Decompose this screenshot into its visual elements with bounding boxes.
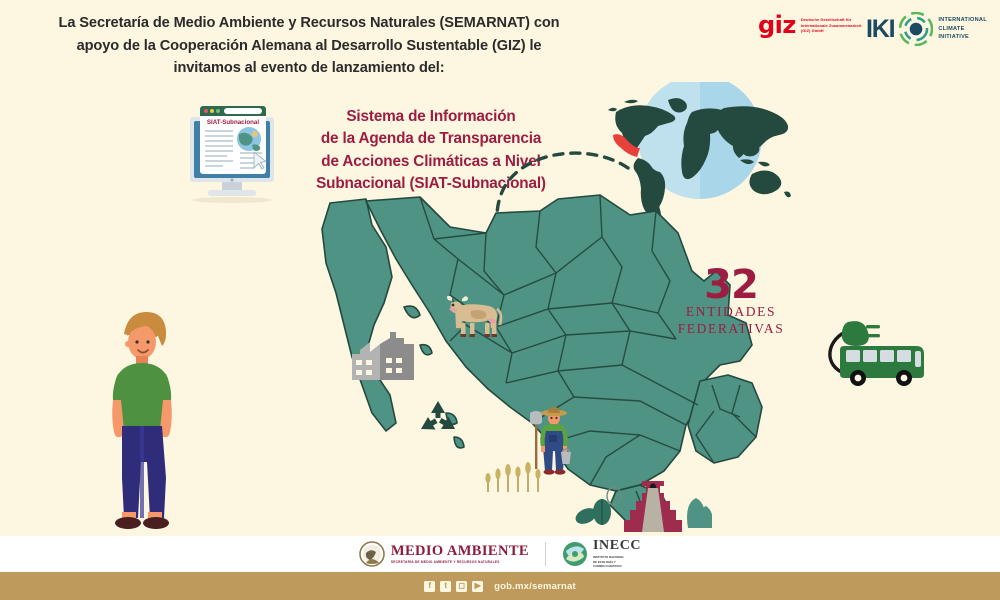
- standing-person-icon: [96, 300, 188, 530]
- iki-subtitle: INTERNATIONAL CLIMATE INITIATIVE: [938, 16, 987, 42]
- footer-website-url[interactable]: gob.mx/semarnat: [494, 581, 576, 592]
- iki-subtitle-line-3: INITIATIVE: [938, 33, 987, 42]
- recycle-icon: [418, 398, 458, 438]
- iki-swirl-icon: [899, 12, 933, 46]
- invitation-header-text: La Secretaría de Medio Ambiente y Recurs…: [14, 12, 604, 80]
- mayan-pyramid-icon: [572, 470, 712, 532]
- iki-logo: IKI INTERNATIONAL CLIMATE INITIATIVE: [866, 12, 987, 46]
- instagram-icon[interactable]: ◻: [456, 581, 467, 592]
- youtube-icon[interactable]: ▶: [472, 581, 483, 592]
- footer-logo-row: MEDIO AMBIENTE SECRETARÍA DE MEDIO AMBIE…: [0, 536, 1000, 572]
- twitter-icon[interactable]: t: [440, 581, 451, 592]
- electric-bus-icon: [812, 318, 938, 394]
- header-line-1: La Secretaría de Medio Ambiente y Recurs…: [14, 12, 604, 35]
- semarnat-title: MEDIO AMBIENTE: [391, 544, 529, 559]
- inecc-title: INECC: [593, 539, 641, 553]
- header-line-3-prefix: invitamos al: [173, 60, 260, 76]
- inecc-subtitle: INSTITUTO NACIONAL DE ECOLOGÍA Y CAMBIO …: [593, 555, 641, 568]
- header-line-3: invitamos al evento de lanzamiento del:: [14, 57, 604, 80]
- entidades-label-line-1: ENTIDADES: [668, 304, 794, 321]
- inecc-leaf-icon: [562, 541, 588, 567]
- semarnat-text-block: MEDIO AMBIENTE SECRETARÍA DE MEDIO AMBIE…: [391, 544, 529, 564]
- footer-divider: [545, 542, 546, 566]
- iki-subtitle-line-2: CLIMATE: [938, 25, 987, 34]
- entidades-federativas-stat: 32 ENTIDADES FEDERATIVAS: [668, 266, 794, 338]
- entidades-label-line-2: FEDERATIVAS: [668, 321, 794, 338]
- factory-icon: [352, 332, 414, 380]
- monitor-browser-title: SIAT-Subnacional: [207, 119, 259, 126]
- header-line-3-suffix: del:: [415, 60, 445, 76]
- iki-wordmark: IKI: [866, 17, 894, 42]
- giz-subtitle: Deutsche Gesellschaft für Internationale…: [801, 14, 863, 34]
- iki-subtitle-line-1: INTERNATIONAL: [938, 16, 987, 25]
- entidades-count: 32: [668, 266, 794, 304]
- inecc-text-block: INECC INSTITUTO NACIONAL DE ECOLOGÍA Y C…: [593, 539, 641, 568]
- footer-social-bar: f t ◻ ▶ gob.mx/semarnat: [0, 572, 1000, 600]
- semarnat-logo: MEDIO AMBIENTE SECRETARÍA DE MEDIO AMBIE…: [359, 541, 529, 567]
- poster-canvas: La Secretaría de Medio Ambiente y Recurs…: [0, 0, 1000, 600]
- title-line-1: Sistema de Información: [288, 106, 574, 128]
- giz-logo: giz Deutsche Gesellschaft für Internatio…: [758, 14, 863, 36]
- header-line-2: apoyo de la Cooperación Alemana al Desar…: [14, 35, 604, 58]
- cow-icon: [443, 293, 505, 339]
- crops-icon: [482, 462, 544, 492]
- mexican-eagle-seal-icon: [359, 541, 385, 567]
- title-line-2: de la Agenda de Transparencia: [288, 128, 574, 150]
- desktop-monitor-icon: SIAT-Subnacional: [182, 100, 282, 205]
- header-line-3-bold: evento de lanzamiento: [261, 60, 415, 76]
- inecc-logo: INECC INSTITUTO NACIONAL DE ECOLOGÍA Y C…: [562, 539, 641, 568]
- semarnat-subtitle: SECRETARÍA DE MEDIO AMBIENTE Y RECURSOS …: [391, 561, 529, 564]
- facebook-icon[interactable]: f: [424, 581, 435, 592]
- inecc-subtitle-line-3: CAMBIO CLIMÁTICO: [593, 564, 641, 568]
- giz-wordmark: giz: [758, 14, 796, 36]
